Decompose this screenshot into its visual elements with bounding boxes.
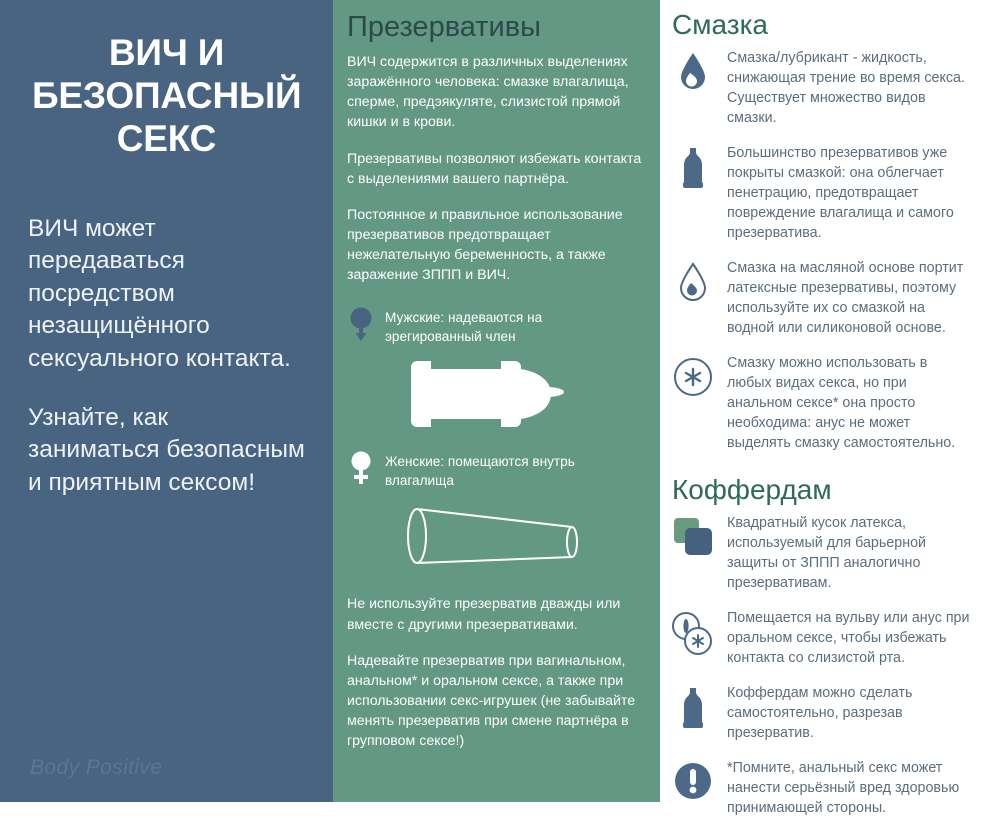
condoms-heading: Презервативы: [347, 12, 642, 44]
dam-item-2-text: Помещается на вульву или анус при оральн…: [727, 607, 973, 668]
condoms-paragraph-3: Постоянное и правильное использование пр…: [347, 205, 642, 286]
dam-item-1-text: Квадратный кусок латекса, используемый д…: [727, 512, 973, 593]
lube-item-1: Смазка/лубрикант - жидкость, снижающая т…: [670, 47, 973, 128]
female-condom-illustration: [347, 498, 642, 568]
lube-item-4: Смазку можно использовать в любых видах …: [670, 352, 973, 453]
female-condom-caption: Женские: помещаются внутрь влагалища: [385, 451, 642, 491]
left-intro-text: ВИЧ может передаваться посредством незащ…: [28, 213, 305, 500]
lube-item-4-text: Смазку можно использовать в любых видах …: [727, 352, 973, 453]
male-condom-illustration: [347, 355, 642, 429]
male-condom-row: Мужские: надеваются на эрегированный чле…: [347, 307, 642, 347]
lube-heading: Смазка: [672, 10, 973, 41]
left-panel: ВИЧ И БЕЗОПАСНЫЙ СЕКС ВИЧ может передава…: [0, 0, 333, 802]
vulva-anus-circles-icon: [670, 607, 716, 657]
condom-bottle-icon: [670, 142, 716, 190]
dam-item-4-text: *Помните, анальный секс может нанести се…: [727, 757, 973, 818]
condom-bottle-icon: [670, 682, 716, 730]
left-paragraph-2: Узнайте, как заниматься безопасным и при…: [28, 402, 305, 500]
water-drop-icon: [670, 47, 716, 91]
middle-panel-condoms: Презервативы ВИЧ содержится в различных …: [333, 0, 660, 802]
lube-item-3-text: Смазка на масляной основе портит латексн…: [727, 257, 973, 338]
condoms-paragraph-2: Презервативы позволяют избежать контакта…: [347, 149, 642, 189]
male-condom-caption: Мужские: надеваются на эрегированный чле…: [385, 307, 642, 347]
dam-item-3-text: Коффердам можно сделать самостоятельно, …: [727, 682, 973, 743]
dam-item-1: Квадратный кусок латекса, используемый д…: [670, 512, 973, 593]
condoms-tail-paragraph-2: Надевайте презерватив при вагинальном, а…: [347, 651, 642, 752]
latex-squares-icon: [670, 512, 716, 558]
infographic-poster: ВИЧ И БЕЗОПАСНЫЙ СЕКС ВИЧ может передава…: [0, 0, 985, 802]
condoms-body: ВИЧ содержится в различных выделениях за…: [347, 52, 642, 286]
dam-item-3: Коффердам можно сделать самостоятельно, …: [670, 682, 973, 743]
right-panel: Смазка Смазка/лубрикант - жидкость, сниж…: [660, 0, 985, 802]
lube-item-1-text: Смазка/лубрикант - жидкость, снижающая т…: [727, 47, 973, 128]
outlined-drop-icon: [670, 257, 716, 303]
lube-item-2-text: Большинство презервативов уже покрыты см…: [727, 142, 973, 243]
condoms-tail-paragraph-1: Не используйте презерватив дважды или вм…: [347, 594, 642, 634]
dam-item-4: *Помните, анальный секс может нанести се…: [670, 757, 973, 818]
anus-asterisk-circle-icon: [670, 352, 716, 398]
page-title: ВИЧ И БЕЗОПАСНЫЙ СЕКС: [28, 32, 305, 161]
dam-item-2: Помещается на вульву или анус при оральн…: [670, 607, 973, 668]
female-condom-row: Женские: помещаются внутрь влагалища: [347, 451, 642, 491]
female-gender-icon: [347, 451, 375, 485]
dam-heading: Коффердам: [672, 475, 973, 506]
male-gender-icon: [347, 307, 375, 341]
lube-item-3: Смазка на масляной основе портит латексн…: [670, 257, 973, 338]
condoms-paragraph-1: ВИЧ содержится в различных выделениях за…: [347, 52, 642, 133]
condoms-tail-body: Не используйте презерватив дважды или вм…: [347, 594, 642, 751]
exclamation-circle-icon: [670, 757, 716, 801]
left-paragraph-1: ВИЧ может передаваться посредством незащ…: [28, 213, 305, 376]
lube-item-2: Большинство презервативов уже покрыты см…: [670, 142, 973, 243]
watermark-credit: Body Positive: [30, 756, 162, 780]
